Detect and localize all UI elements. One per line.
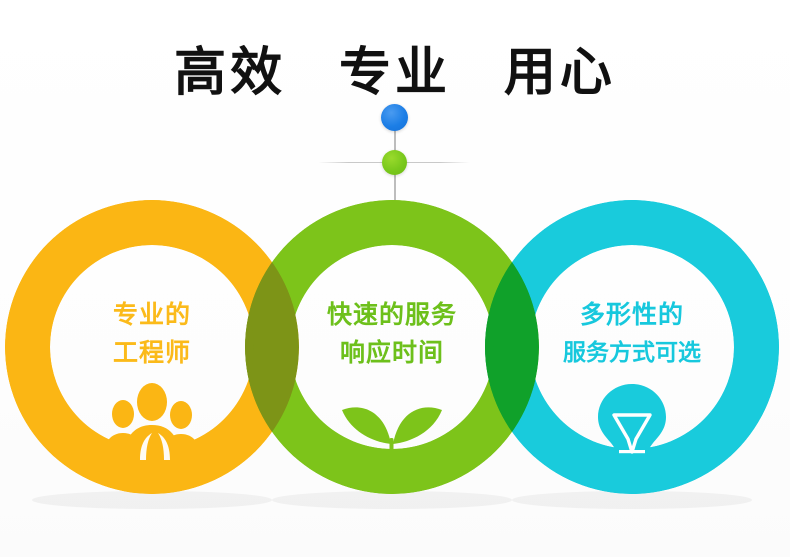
overlap-green-cyan — [245, 200, 539, 494]
venn-rings-graphic — [0, 0, 790, 557]
infographic-canvas: 高效 专业 用心 — [0, 0, 790, 557]
